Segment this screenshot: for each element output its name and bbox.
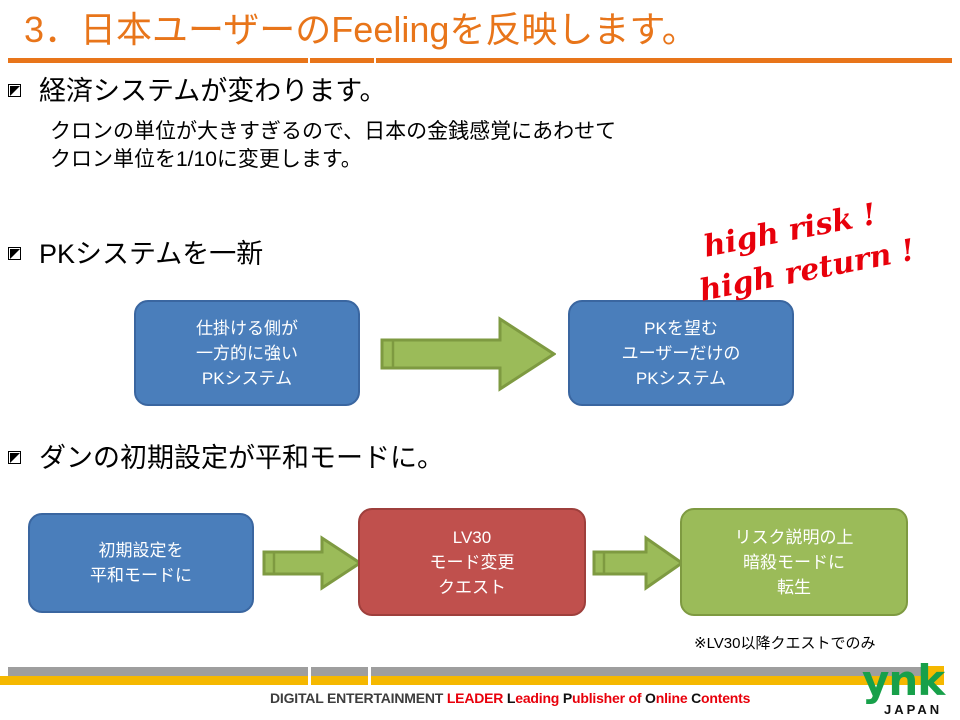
flow-box-pk-before: 仕掛ける側が 一方的に強い PKシステム [134, 300, 360, 406]
flow-box-line: 平和モードに [90, 563, 192, 588]
flow-box-line: PKシステム [636, 366, 726, 391]
tagline-part-8: nline [656, 690, 691, 706]
flow-box-pk-after: PKを望む ユーザーだけの PKシステム [568, 300, 794, 406]
tagline-part-6: ublisher of [572, 690, 645, 706]
bullet-label-dan: ダンの初期設定が平和モードに。 [39, 441, 444, 475]
flow-box-dan-default: 初期設定を 平和モードに [28, 513, 254, 613]
footer-yellow-bar [0, 676, 944, 685]
arrow-right-icon [380, 316, 556, 392]
flow-box-dan-rebirth: リスク説明の上 暗殺モードに 転生 [680, 508, 908, 616]
annotation-line-risk: high risk ! [701, 197, 879, 265]
flow-box-line: クエスト [438, 575, 506, 600]
page-title: 3．日本ユーザーのFeelingを反映します。 [24, 6, 936, 54]
tagline-part-9: C [691, 690, 701, 706]
bullet-marker-icon [8, 247, 23, 262]
economy-detail-line1: クロンの単位が大きすぎるので、日本の金銭感覚にあわせて [50, 118, 616, 146]
tagline-part-10: ontents [701, 690, 750, 706]
flow-box-line: LV30 [453, 525, 491, 550]
flow-box-line: 一方的に強い [196, 341, 298, 366]
footer-grey-bar [8, 667, 944, 676]
tagline-part-1: DIGITAL ENTERTAINMENT [270, 690, 447, 706]
arrow-right-icon [262, 535, 362, 591]
flow-box-line: リスク説明の上 [735, 525, 854, 550]
flow-box-line: モード変更 [430, 550, 515, 575]
bullet-marker-icon [8, 451, 23, 466]
tagline-part-3: L [503, 690, 515, 706]
bullet-item-economy: 経済システムが変わります。 [8, 74, 387, 108]
bullet-item-dan: ダンの初期設定が平和モードに。 [8, 441, 444, 475]
flow-box-line: ユーザーだけの [622, 341, 741, 366]
footer-tagline: DIGITAL ENTERTAINMENT LEADER Leading Pub… [270, 688, 750, 708]
flow-box-line: 転生 [777, 575, 811, 600]
bullet-item-pk: PKシステムを一新 [8, 237, 263, 271]
bullet-label-pk: PKシステムを一新 [39, 237, 263, 271]
economy-detail: クロンの単位が大きすぎるので、日本の金銭感覚にあわせて クロン単位を1/10に変… [50, 118, 616, 174]
logo-wordmark: ynk [862, 660, 960, 702]
economy-detail-line2: クロン単位を1/10に変更します。 [50, 146, 616, 174]
logo-country-label: JAPAN [884, 702, 942, 717]
flow-box-line: 仕掛ける側が [196, 316, 298, 341]
tagline-part-4: eading [515, 690, 563, 706]
flow-box-line: 初期設定を [99, 538, 184, 563]
flow-box-line: 暗殺モードに [743, 550, 845, 575]
flow-box-line: PKを望む [644, 316, 718, 341]
tagline-part-7: O [645, 690, 656, 706]
title-divider [8, 58, 952, 63]
flow-box-line: PKシステム [202, 366, 292, 391]
annotation-line-return: high return ! [697, 233, 918, 309]
bullet-marker-icon [8, 84, 23, 99]
bullet-label-economy: 経済システムが変わります。 [39, 74, 387, 108]
ynk-japan-logo: ynk JAPAN [862, 660, 960, 718]
tagline-part-5: P [563, 690, 572, 706]
footnote-text: ※LV30以降クエストでのみ [694, 634, 876, 654]
tagline-part-2: LEADER [447, 690, 503, 706]
flow-box-dan-quest: LV30 モード変更 クエスト [358, 508, 586, 616]
arrow-right-icon [592, 535, 684, 591]
